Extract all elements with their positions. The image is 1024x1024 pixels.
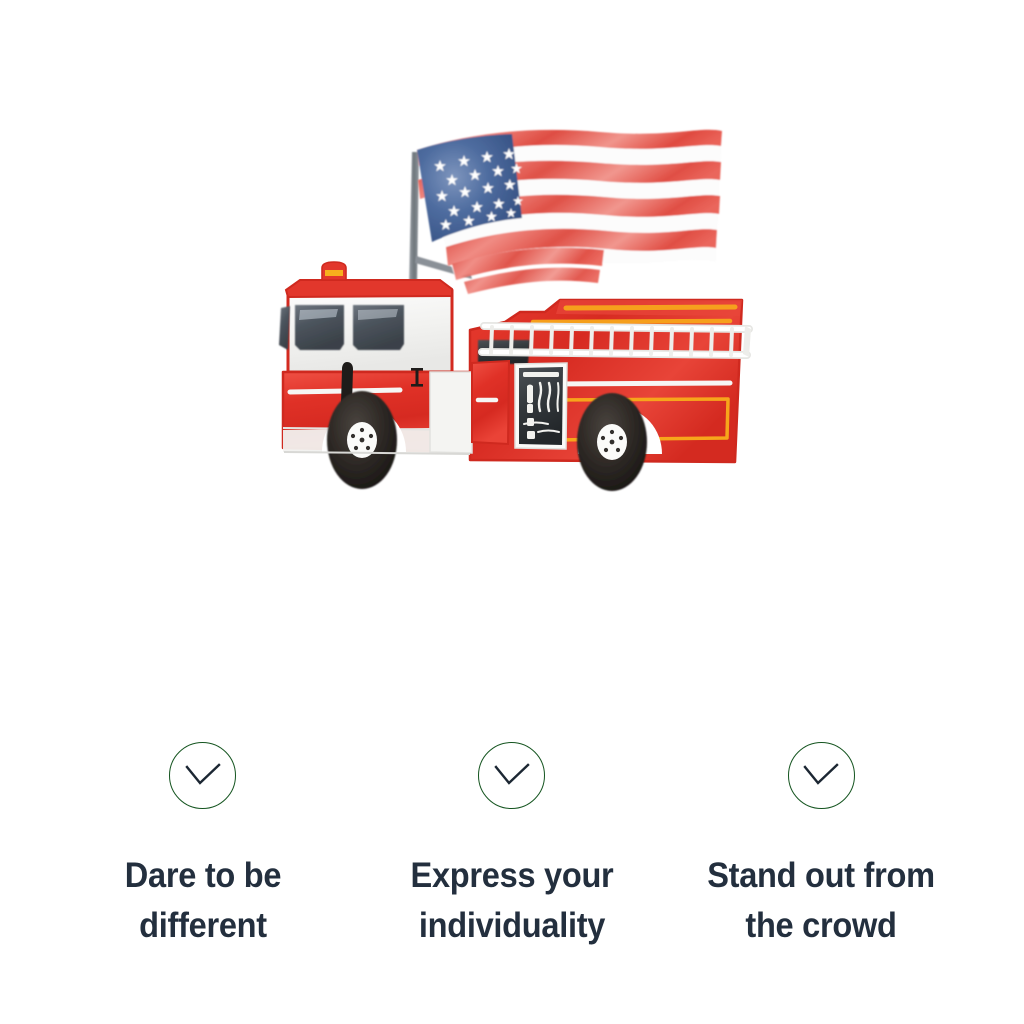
rear-wheel: [577, 393, 647, 491]
check-icon: [478, 742, 545, 809]
beacon-light-icon: [322, 262, 346, 280]
benefit-label: Express your individuality: [372, 851, 651, 952]
product-feature-page: Dare to be different Express your indivi…: [0, 0, 1024, 1024]
american-flag-icon: [417, 130, 722, 294]
benefit-item-stand-out-from-the-crowd: Stand out from the crowd: [667, 742, 976, 952]
benefits-strip: Dare to be different Express your indivi…: [0, 742, 1024, 952]
benefit-item-express-your-individuality: Express your individuality: [357, 742, 666, 952]
fire-truck-icon: [279, 262, 751, 491]
hero-illustration: [0, 0, 1024, 640]
side-compartment: [515, 363, 567, 449]
front-wheel: [327, 391, 397, 489]
benefit-item-dare-to-be-different: Dare to be different: [48, 742, 357, 952]
check-icon: [169, 742, 236, 809]
check-icon: [788, 742, 855, 809]
benefit-label: Stand out from the crowd: [682, 851, 961, 952]
benefit-label: Dare to be different: [63, 851, 342, 952]
